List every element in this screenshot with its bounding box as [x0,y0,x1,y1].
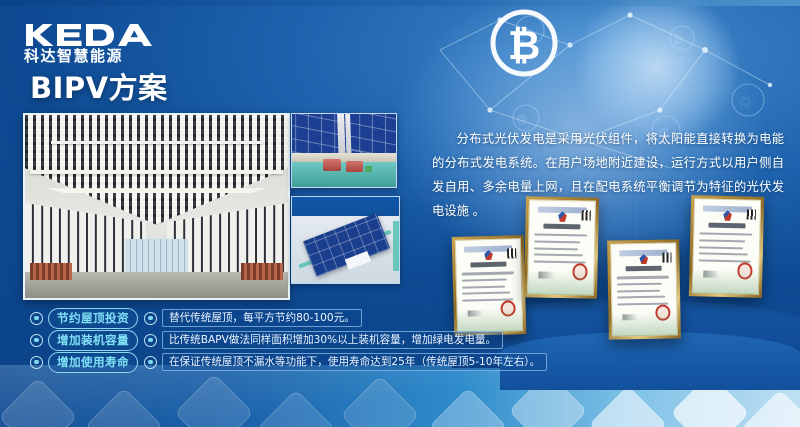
feature-list: 节约屋顶投资 替代传统屋顶，每平方节约80-100元。 增加装机容量 比传统BA… [30,307,450,373]
keda-wordmark-icon [24,22,152,48]
feature-row: 增加使用寿命 在保证传统屋顶不漏水等功能下，使用寿命达到25年（传统屋顶5-10… [30,351,450,373]
pv-mounting-detail-render [291,113,397,188]
feature-badge: 增加使用寿命 [48,352,138,373]
feature-badge: 增加装机容量 [48,330,138,351]
radio-dot-icon [30,334,43,347]
feature-description: 比传统BAPV做法同样面积增加30%以上装机容量，增加绿电发电量。 [162,331,503,349]
feature-description: 在保证传统屋顶不漏水等功能下，使用寿命达到25年（传统屋顶5-10年左右）。 [162,353,547,371]
svg-text:◎: ◎ [740,96,751,109]
feature-description: 替代传统屋顶，每平方节约80-100元。 [162,309,362,327]
patent-certificate-2[interactable] [524,196,599,299]
atrium-skylight-photo [23,113,290,300]
feature-row: 增加装机容量 比传统BAPV做法同样面积增加30%以上装机容量，增加绿电发电量。 [30,329,450,351]
feature-badge: 节约屋顶投资 [48,308,138,329]
page-title: BIPV方案 [30,74,168,103]
bipv-poster: ₿@₿ @◎ ₿ 科达智慧能源 BIPV方案 [0,0,800,427]
bitcoin-circle-icon: ₿ [487,6,561,80]
svg-text:₿: ₿ [674,34,682,46]
brand-logo[interactable]: 科达智慧能源 [24,22,152,64]
radio-dot-icon [30,312,43,325]
radio-dot-icon [144,356,157,369]
brand-logo-subtitle: 科达智慧能源 [24,49,152,64]
patent-certificate-3[interactable] [607,239,681,339]
patent-certificate-1[interactable] [452,235,527,336]
radio-dot-icon [144,334,157,347]
radio-dot-icon [144,312,157,325]
feature-row: 节约屋顶投资 替代传统屋顶，每平方节约80-100元。 [30,307,450,329]
pv-array-roof-render [291,196,400,284]
svg-text:₿: ₿ [508,23,541,69]
svg-text:@: @ [516,114,527,126]
radio-dot-icon [30,356,43,369]
patent-certificate-4[interactable] [689,195,764,298]
